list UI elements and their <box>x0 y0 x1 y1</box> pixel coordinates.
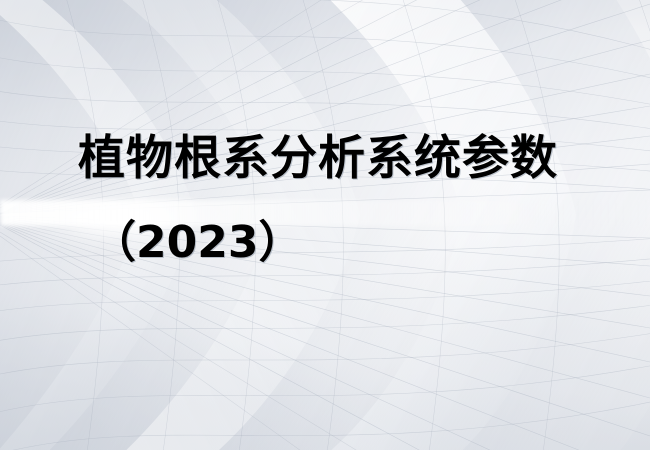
page-subtitle-year: （2023） <box>0 190 650 268</box>
title-block: 植物根系分析系统参数 （2023） <box>0 128 650 268</box>
title-slide: 植物根系分析系统参数 （2023） <box>0 0 650 450</box>
page-title: 植物根系分析系统参数 <box>0 128 650 190</box>
